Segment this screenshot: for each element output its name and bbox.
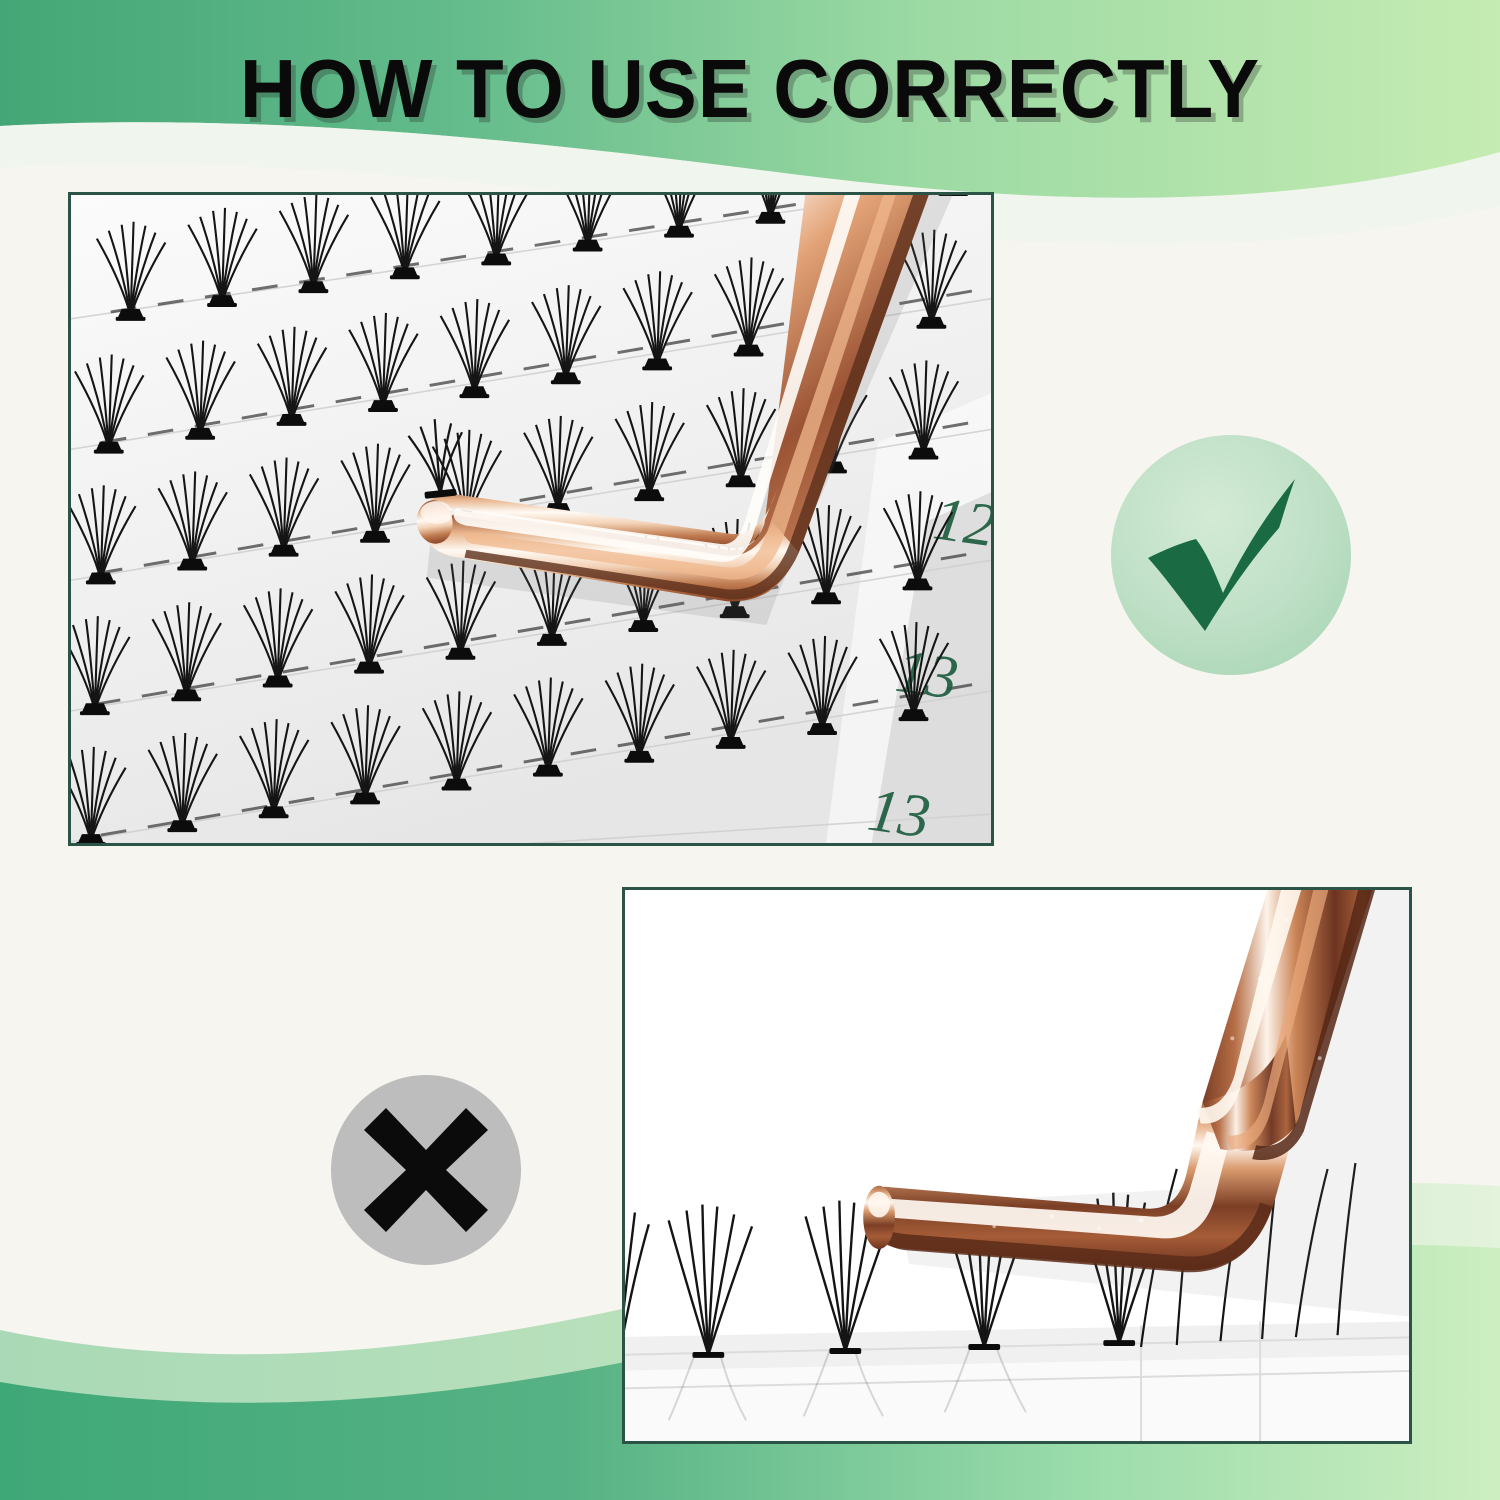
strip-number: 12 xyxy=(929,484,991,560)
strip-number: 13 xyxy=(892,637,962,713)
status-badge-wrong xyxy=(330,1074,522,1266)
page-title: HOW TO USE CORRECTLY xyxy=(45,44,1455,134)
strip-number: 13 xyxy=(864,776,934,843)
status-badge-correct xyxy=(1110,434,1352,676)
photo-incorrect-illustration xyxy=(625,890,1409,1441)
photo-incorrect-usage xyxy=(622,887,1412,1444)
cross-icon xyxy=(330,1074,522,1266)
check-icon xyxy=(1110,434,1352,676)
infographic-page: HOW TO USE CORRECTLY xyxy=(0,0,1500,1500)
photo-correct-illustration: 12 13 13 xyxy=(71,195,991,843)
photo-correct-usage: 12 13 13 xyxy=(68,192,994,846)
